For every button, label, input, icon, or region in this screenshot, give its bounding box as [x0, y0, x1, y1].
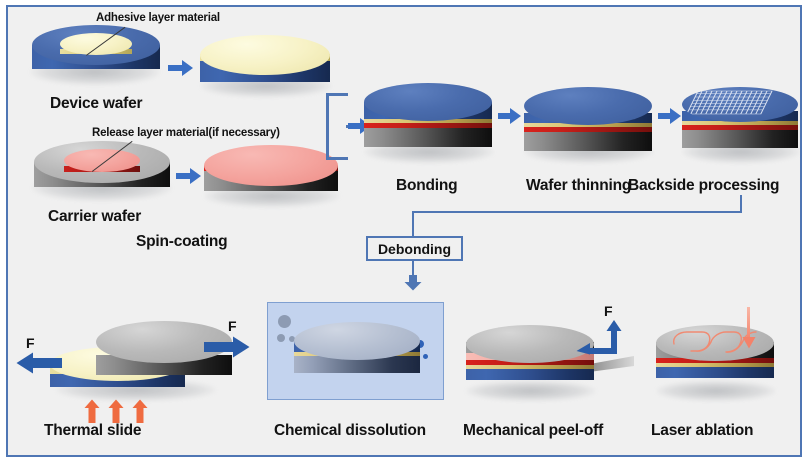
label-wafer-thinning: Wafer thinning	[526, 177, 631, 195]
force-label-peel: F	[604, 303, 612, 319]
heat-arrow-3	[132, 399, 148, 423]
debonding-label: Debonding	[378, 241, 451, 257]
label-backside-processing: Backside processing	[628, 177, 779, 195]
label-chemical-dissolution: Chemical dissolution	[274, 422, 426, 440]
laser-ablation-stack	[656, 325, 774, 387]
laser-scan-path-icon	[656, 325, 774, 361]
bracket-top-horizontal	[326, 93, 348, 96]
device-wafer-adhesive-puddle	[60, 33, 132, 57]
debonding-feed-riser	[740, 195, 742, 213]
force-label-thermal-right: F	[228, 318, 236, 334]
heat-arrow-1	[84, 399, 100, 423]
coated-carrier-wafer	[204, 145, 338, 199]
thinning-stack	[524, 87, 652, 149]
arrow-carrier-to-coated	[176, 167, 202, 185]
laser-beam-arrowhead	[742, 337, 756, 349]
label-laser-ablation: Laser ablation	[651, 422, 753, 440]
mechanical-peel-stack	[466, 325, 594, 387]
arrow-bonding-to-thinning	[498, 107, 522, 125]
label-carrier-wafer: Carrier wafer	[48, 208, 141, 226]
bonding-stack	[364, 83, 492, 149]
label-spin-coating: Spin-coating	[136, 233, 227, 251]
label-thermal-slide: Thermal slide	[44, 422, 141, 440]
chemical-dissolution-stack	[294, 322, 420, 384]
force-arrow-peel-bent	[576, 319, 622, 355]
bubble-mid-left	[277, 334, 285, 342]
backside-stack	[682, 87, 798, 149]
force-arrow-thermal-left	[16, 352, 62, 374]
force-arrow-thermal-right	[204, 336, 250, 358]
force-label-thermal-left: F	[26, 335, 34, 351]
heat-arrow-2	[108, 399, 124, 423]
bubble-large-left	[278, 315, 291, 328]
callout-release-layer: Release layer material(if necessary)	[92, 127, 280, 139]
label-bonding: Bonding	[396, 177, 457, 195]
label-device-wafer: Device wafer	[50, 95, 142, 113]
bubble-right-tiny	[423, 354, 428, 359]
arrow-device-to-coated	[168, 59, 194, 77]
debonding-box[interactable]: Debonding	[366, 236, 463, 261]
bracket-bottom-horizontal	[326, 157, 348, 160]
coated-device-wafer	[200, 35, 330, 89]
arrow-debonding-down	[404, 275, 422, 291]
figure-panel: Adhesive layer material Device wafer Rel…	[6, 5, 802, 457]
label-mechanical-peel-off: Mechanical peel-off	[463, 422, 603, 440]
debonding-feed-horizontal	[412, 211, 742, 213]
debonding-feed-drop	[412, 211, 414, 237]
laser-beam	[747, 307, 750, 341]
bracket-vertical	[326, 93, 329, 159]
die-array-pattern	[682, 87, 798, 122]
arrow-thinning-to-backside	[658, 107, 682, 125]
callout-adhesive-layer: Adhesive layer material	[96, 12, 220, 24]
